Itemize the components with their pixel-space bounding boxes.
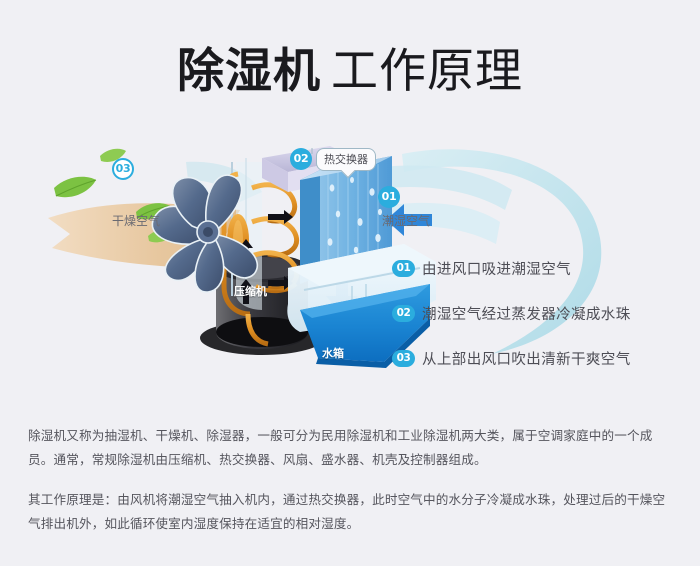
diagram-badge-dry-air: 03 — [112, 158, 134, 180]
legend-item-02[interactable]: 02 潮湿空气经过蒸发器冷凝成水珠 — [392, 297, 682, 329]
legend-text-03: 从上部出风口吹出清新干爽空气 — [422, 348, 631, 369]
legend-text-02: 潮湿空气经过蒸发器冷凝成水珠 — [422, 303, 631, 324]
legend-list: 01 由进风口吸进潮湿空气 02 潮湿空气经过蒸发器冷凝成水珠 03 从上部出风… — [392, 252, 682, 387]
legend-item-03[interactable]: 03 从上部出风口吹出清新干爽空气 — [392, 342, 682, 374]
diagram-callout-heat-exchanger: 热交换器 — [316, 148, 376, 171]
page-title: 除湿机工作原理 — [0, 32, 700, 101]
legend-text-01: 由进风口吸进潮湿空气 — [422, 258, 571, 279]
diagram-badge-heat-exchanger: 02 — [290, 148, 312, 170]
machine-label-water-tank: 水箱 — [322, 345, 344, 361]
body-paragraph-2: 其工作原理是：由风机将潮湿空气抽入机内，通过热交换器，此时空气中的水分子冷凝成水… — [28, 488, 676, 536]
legend-item-01[interactable]: 01 由进风口吸进潮湿空气 — [392, 252, 682, 284]
diagram-badge-humid-air: 01 — [378, 186, 400, 208]
body-paragraph-1: 除湿机又称为抽湿机、干燥机、除湿器，一般可分为民用除湿机和工业除湿机两大类，属于… — [28, 424, 676, 472]
legend-badge-01: 01 — [392, 260, 415, 277]
machine-label-compressor: 压缩机 — [234, 283, 267, 299]
title-primary: 除湿机 — [177, 44, 321, 99]
title-secondary: 工作原理 — [331, 44, 523, 99]
diagram-label-dry-air: 干燥空气 — [112, 212, 160, 229]
legend-badge-02: 02 — [392, 305, 415, 322]
infographic-page: 除湿机工作原理 — [0, 0, 700, 566]
body-copy: 除湿机又称为抽湿机、干燥机、除湿器，一般可分为民用除湿机和工业除湿机两大类，属于… — [28, 424, 676, 536]
diagram-label-humid-air: 潮湿空气 — [382, 212, 430, 229]
legend-badge-03: 03 — [392, 350, 415, 367]
